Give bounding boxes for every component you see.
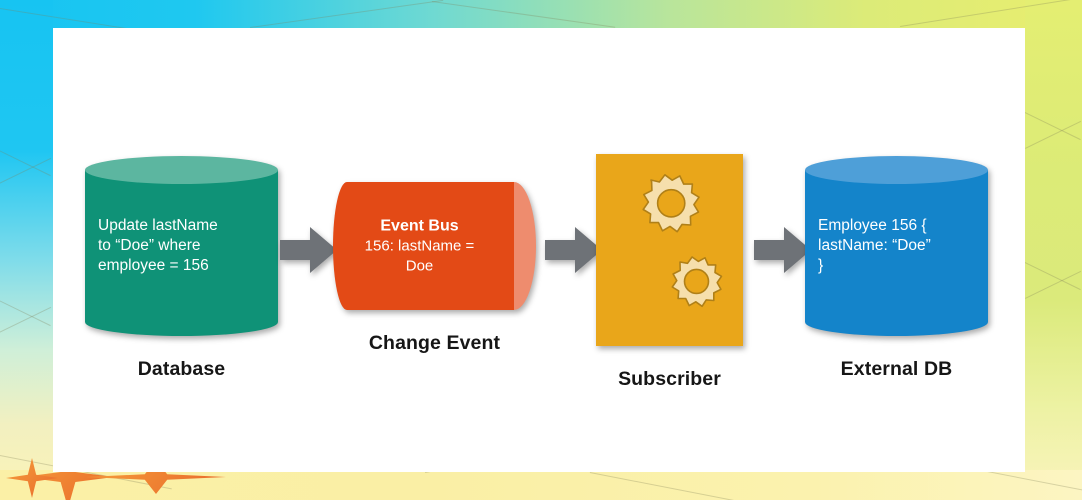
border-band-left: [0, 0, 53, 500]
subscriber-box: [596, 154, 743, 346]
stage-label-subscriber: Subscriber: [596, 368, 743, 391]
stage-subscriber[interactable]: Subscriber: [596, 154, 743, 391]
arrow-1-icon: [278, 224, 340, 276]
stage-change-event[interactable]: Event Bus 156: lastName = Doe Change Eve…: [333, 182, 536, 355]
event-bus-title: Event Bus: [345, 217, 494, 237]
event-bus-payload: 156: lastName = Doe: [345, 237, 494, 275]
database-text: Update lastName to “Doe” where employee …: [98, 216, 268, 276]
border-band-right: [1025, 0, 1082, 500]
stage-database[interactable]: Update lastName to “Doe” where employee …: [85, 156, 278, 381]
stage-label-external-db: External DB: [805, 358, 988, 381]
database-cylinder-top: [85, 156, 278, 184]
sparkle-decoration-small: [6, 458, 58, 498]
event-bus-cylinder: Event Bus 156: lastName = Doe: [333, 182, 536, 310]
database-cylinder: Update lastName to “Doe” where employee …: [85, 156, 278, 336]
external-db-text: Employee 156 { lastName: “Doe” }: [818, 216, 978, 276]
stage-label-database: Database: [85, 358, 278, 381]
external-db-cylinder-top: [805, 156, 988, 184]
cdc-pipeline-diagram: Update lastName to “Doe” where employee …: [53, 28, 1025, 472]
stage-label-change-event: Change Event: [333, 332, 536, 355]
gears-icon: [596, 154, 743, 346]
event-bus-text: Event Bus 156: lastName = Doe: [345, 217, 494, 276]
slide-content-panel: Update lastName to “Doe” where employee …: [53, 28, 1025, 472]
stage-external-db[interactable]: Employee 156 { lastName: “Doe” } Externa…: [805, 156, 988, 381]
external-db-cylinder: Employee 156 { lastName: “Doe” }: [805, 156, 988, 336]
